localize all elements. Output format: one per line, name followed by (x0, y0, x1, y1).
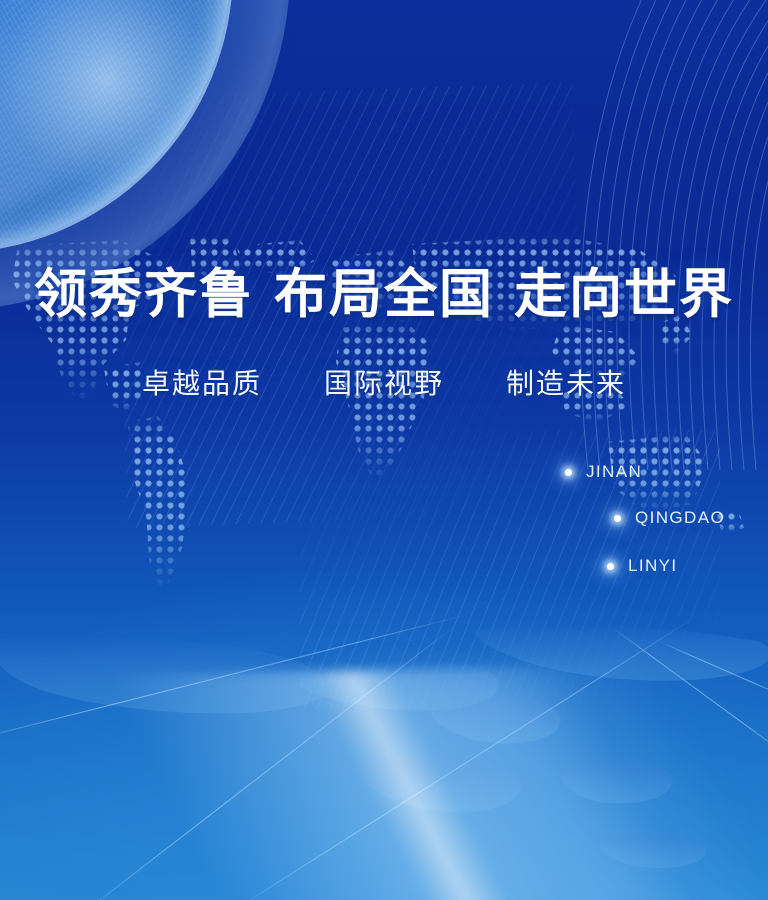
hero-banner: 领秀齐鲁布局全国走向世界 卓越品质国际视野制造未来 JINAN QINGDAO … (0, 0, 768, 900)
headline-part-3: 走向世界 (514, 263, 734, 325)
headline-part-2: 布局全国 (274, 263, 494, 325)
city-marker-dot-icon (565, 469, 572, 476)
city-marker-dot-icon (614, 515, 621, 522)
city-marker-qingdao[interactable]: QINGDAO (614, 508, 725, 528)
city-label-linyi: LINYI (628, 556, 678, 576)
city-label-jinan: JINAN (586, 462, 642, 482)
city-marker-linyi[interactable]: LINYI (607, 556, 678, 576)
banner-copy: 领秀齐鲁布局全国走向世界 卓越品质国际视野制造未来 JINAN QINGDAO … (0, 0, 768, 900)
subline-part-1: 卓越品质 (142, 367, 262, 400)
headline-part-1: 领秀齐鲁 (34, 263, 254, 325)
page-subtitle: 卓越品质国际视野制造未来 (0, 370, 768, 398)
city-marker-dot-icon (607, 563, 614, 570)
subline-part-2: 国际视野 (324, 367, 444, 400)
subline-part-3: 制造未来 (506, 367, 626, 400)
city-label-qingdao: QINGDAO (635, 508, 725, 528)
page-title: 领秀齐鲁布局全国走向世界 (0, 268, 768, 321)
city-marker-jinan[interactable]: JINAN (565, 462, 642, 482)
